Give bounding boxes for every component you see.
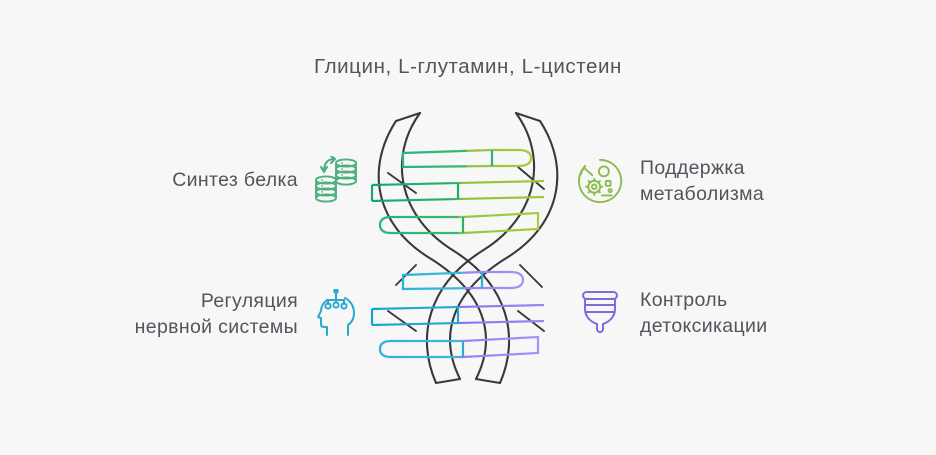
feature-label-protein-synthesis: Синтез белка: [172, 167, 298, 193]
page-title: Глицин, L-глутамин, L-цистеин: [0, 55, 936, 79]
head-neuron-icon: [312, 289, 360, 339]
feature-label-metabolism-support: Поддержка метаболизма: [640, 155, 764, 207]
feature-item-detox-control[interactable]: Контроль детоксикации: [576, 282, 906, 344]
feature-label-nervous-system-regulation: Регуляция нервной системы: [135, 288, 298, 340]
feature-item-protein-synthesis[interactable]: Синтез белка: [40, 152, 360, 208]
feature-item-metabolism-support[interactable]: Поддержка метаболизма: [576, 150, 906, 212]
feature-label-detox-control: Контроль детоксикации: [640, 287, 767, 339]
infographic-canvas: Глицин, L-глутамин, L-цистеин: [0, 0, 936, 455]
dna-double-helix: [358, 105, 578, 395]
server-stacks-exchange-icon: [312, 155, 360, 205]
feature-item-nervous-system-regulation[interactable]: Регуляция нервной системы: [30, 282, 360, 346]
funnel-filter-icon: [576, 288, 624, 338]
cell-metabolism-circle-icon: [576, 156, 624, 206]
